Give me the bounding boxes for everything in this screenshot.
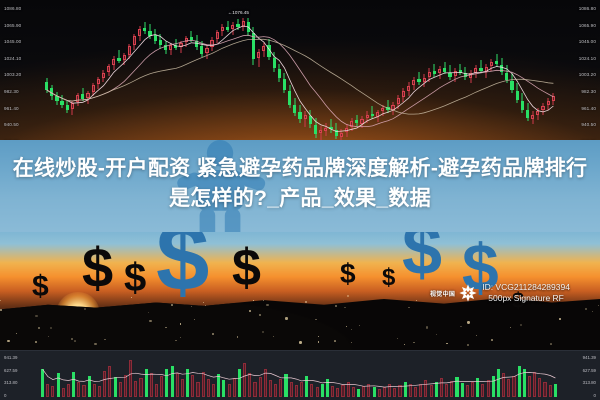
candlestick (71, 6, 74, 140)
light-speck (334, 340, 336, 342)
volume-bar (367, 384, 370, 397)
candlestick (376, 6, 379, 140)
dollar-sign-silhouette: $ (82, 240, 113, 296)
volume-bar (435, 382, 438, 397)
candlestick (231, 6, 234, 140)
volume-bar (67, 384, 70, 397)
axis-tick-label: 1024.10 (4, 56, 21, 61)
volume-bar (373, 387, 376, 397)
axis-tick-label: 1065.90 (579, 23, 596, 28)
volume-bar (445, 384, 448, 397)
volume-bar (450, 381, 453, 397)
volume-bar (51, 386, 54, 397)
volume-ma-line (40, 355, 558, 397)
volume-bar (129, 360, 132, 397)
light-speck (467, 321, 469, 323)
candlestick (247, 6, 250, 140)
candlestick (423, 6, 426, 140)
price-chart-panel: ←1076.45 1086.801065.901045.001024.10100… (0, 0, 600, 160)
axis-tick-label: 1045.00 (4, 39, 21, 44)
candlestick (490, 6, 493, 140)
light-speck (266, 304, 268, 306)
volume-bar (196, 382, 199, 397)
candlestick (360, 6, 363, 140)
volume-bar (222, 380, 225, 397)
volume-bar (466, 385, 469, 397)
candlestick (252, 6, 255, 140)
axis-tick-label: 982.30 (581, 89, 596, 94)
vcg-brand-label: 视觉中国 (430, 289, 455, 298)
vcg-logo: 视觉中国 (430, 282, 479, 304)
volume-bar (512, 376, 515, 397)
volume-bar (269, 380, 272, 397)
volume-bar (98, 386, 101, 397)
candlestick (485, 6, 488, 140)
light-speck (347, 295, 349, 297)
candlestick (464, 6, 467, 140)
candlestick (298, 6, 301, 140)
candlestick (159, 6, 162, 140)
candlestick (288, 6, 291, 140)
volume-bar (419, 384, 422, 397)
volume-bar (378, 389, 381, 397)
volume-bar (243, 363, 246, 397)
volume-bar (487, 380, 490, 397)
volume-bar (264, 369, 267, 397)
candlestick (428, 6, 431, 140)
axis-tick-label: 1086.80 (4, 6, 21, 11)
candlestick (174, 6, 177, 140)
volume-bar (93, 384, 96, 397)
candlestick (216, 6, 219, 140)
volume-bar (228, 384, 231, 397)
candlestick (179, 6, 182, 140)
volume-bar (238, 369, 241, 397)
candlestick (97, 6, 100, 140)
light-speck (175, 340, 176, 341)
candlestick (495, 6, 498, 140)
candlestick (412, 6, 415, 140)
volume-bar (347, 382, 350, 397)
candlestick (66, 6, 69, 140)
volume-bar (398, 385, 401, 397)
candlestick (195, 6, 198, 140)
candlestick (391, 6, 394, 140)
watermark-license: 500px Signature RF (482, 293, 570, 304)
dollar-sign-silhouette: $ (232, 242, 261, 294)
candlestick (45, 6, 48, 140)
volume-bar (538, 378, 541, 397)
candlestick (123, 6, 126, 140)
light-speck (7, 340, 9, 342)
volume-bar (492, 376, 495, 397)
light-speck (559, 318, 561, 320)
candlestick (92, 6, 95, 140)
volume-bar (253, 382, 256, 397)
light-speck (416, 300, 417, 301)
volume-bar (331, 386, 334, 397)
light-speck (299, 341, 301, 343)
volume-bar (326, 379, 329, 397)
candlestick (154, 6, 157, 140)
volume-bar (259, 377, 262, 397)
volume-bar (341, 385, 344, 397)
light-speck (212, 333, 214, 335)
candlestick (340, 6, 343, 140)
candlestick (293, 6, 296, 140)
volume-bar (274, 384, 277, 397)
candlestick (547, 6, 550, 140)
volume-bar (181, 379, 184, 397)
candlestick (479, 6, 482, 140)
volume-bar (279, 379, 282, 397)
volume-bar (114, 377, 117, 397)
candlestick (50, 6, 53, 140)
candlestick (443, 6, 446, 140)
candlestick (448, 6, 451, 140)
peak-annotation: ←1076.45 (228, 10, 249, 15)
volume-axis-tick-label: 313.80 (583, 380, 596, 385)
candlestick (205, 6, 208, 140)
light-speck (237, 336, 239, 338)
volume-axis-tick-label: 0 (4, 393, 6, 398)
volume-bar (528, 376, 531, 397)
candlestick (257, 6, 260, 140)
candlestick (438, 6, 441, 140)
volume-bar (77, 382, 80, 397)
candlestick (469, 6, 472, 140)
light-speck (191, 306, 192, 307)
candlestick (81, 6, 84, 140)
candlestick (552, 6, 555, 140)
volume-bar (300, 382, 303, 397)
volume-bar (455, 377, 458, 397)
volume-bar (430, 385, 433, 397)
volume-bar (383, 387, 386, 397)
axis-tick-label: 940.50 (581, 122, 596, 127)
volume-bar (362, 386, 365, 397)
candlestick (133, 6, 136, 140)
volume-bar (471, 382, 474, 397)
volume-axis-tick-label: 627.59 (4, 368, 17, 373)
candlestick (381, 6, 384, 140)
candlestick (304, 6, 307, 140)
candlestick (521, 6, 524, 140)
axis-tick-label: 1003.20 (579, 72, 596, 77)
light-speck (0, 300, 1, 301)
volume-bar (316, 387, 319, 397)
light-speck (585, 308, 587, 310)
candlestick (138, 6, 141, 140)
light-speck (180, 337, 181, 338)
volume-bar (202, 372, 205, 397)
volume-bar (554, 384, 557, 397)
candlestick (319, 6, 322, 140)
volume-bar (321, 384, 324, 397)
candlestick (112, 6, 115, 140)
volume-bar (41, 369, 44, 397)
volume-bar (248, 373, 251, 397)
volume-axis-tick-label: 0 (594, 393, 596, 398)
candlestick (459, 6, 462, 140)
volume-bar (46, 384, 49, 397)
volume-bar (82, 385, 85, 397)
volume-bar (440, 378, 443, 397)
volume-bar (305, 376, 308, 397)
candlestick (226, 6, 229, 140)
candlestick (190, 6, 193, 140)
axis-tick-label: 1065.90 (4, 23, 21, 28)
candlestick (267, 6, 270, 140)
candlestick (143, 6, 146, 140)
volume-bar (497, 369, 500, 397)
volume-bar (424, 380, 427, 397)
volume-bar (72, 372, 75, 397)
candlestick (541, 6, 544, 140)
candlestick-plot (44, 6, 556, 140)
candlestick (86, 6, 89, 140)
candlestick (355, 6, 358, 140)
volume-bar (533, 372, 536, 397)
axis-tick-label: 961.40 (581, 106, 596, 111)
dollar-sign-silhouette: $ (402, 232, 442, 286)
volume-bar (476, 378, 479, 397)
watermark-id: ID: VCG211284289394 (482, 282, 570, 293)
light-speck (592, 311, 593, 312)
candlestick (345, 6, 348, 140)
candlestick (536, 6, 539, 140)
candlestick (283, 6, 286, 140)
dollar-sign-silhouette: $ (382, 266, 395, 290)
axis-tick-label: 940.50 (4, 122, 19, 127)
volume-bar (284, 374, 287, 397)
watermark: 视觉中国 ID: VCG211284289394 (430, 282, 570, 304)
candlestick (236, 6, 239, 140)
light-speck (404, 344, 405, 345)
light-speck (305, 301, 307, 303)
pinwheel-icon (457, 282, 479, 304)
light-speck (35, 315, 37, 317)
light-speck (74, 340, 76, 342)
axis-tick-label: 982.30 (4, 89, 19, 94)
candlestick (107, 6, 110, 140)
candlestick (505, 6, 508, 140)
volume-axis-tick-label: 627.59 (583, 368, 596, 373)
candlestick (128, 6, 131, 140)
volume-bar (155, 384, 158, 397)
candlestick (500, 6, 503, 140)
light-speck (351, 329, 352, 330)
light-speck (94, 343, 96, 345)
candlestick (148, 6, 151, 140)
volume-bar (207, 379, 210, 397)
candlestick (417, 6, 420, 140)
light-speck (171, 304, 173, 306)
volume-bar (103, 371, 106, 397)
light-speck (446, 343, 447, 344)
candlestick (324, 6, 327, 140)
volume-bar (295, 385, 298, 397)
light-speck (249, 310, 251, 312)
volume-bar (388, 384, 391, 397)
candlestick (402, 6, 405, 140)
candlestick (185, 6, 188, 140)
volume-bar (186, 369, 189, 397)
light-speck (397, 338, 398, 339)
candlestick (329, 6, 332, 140)
axis-tick-label: 1045.00 (579, 39, 596, 44)
volume-bar (404, 382, 407, 397)
volume-bar (414, 387, 417, 397)
candlestick (531, 6, 534, 140)
dollar-sign-silhouette: $ (156, 232, 209, 306)
volume-bar (145, 369, 148, 397)
candlestick (366, 6, 369, 140)
candlestick (516, 6, 519, 140)
candlestick (102, 6, 105, 140)
volume-bar (352, 387, 355, 397)
candlestick (60, 6, 63, 140)
dollar-sign-silhouette: $ (124, 258, 146, 298)
volume-bar (393, 388, 396, 397)
candlestick (117, 6, 120, 140)
candlestick (433, 6, 436, 140)
light-speck (263, 300, 264, 301)
candlestick (350, 6, 353, 140)
volume-chart-panel: 941.39627.59313.800 941.39627.59313.800 (0, 350, 600, 400)
candlestick (407, 6, 410, 140)
light-speck (50, 327, 52, 329)
candlestick (55, 6, 58, 140)
volume-bar (160, 376, 163, 397)
volume-bar (310, 384, 313, 397)
volume-bar (357, 389, 360, 397)
volume-bar (461, 383, 464, 397)
volume-bar (233, 378, 236, 397)
candlestick (273, 6, 276, 140)
volume-bar (290, 382, 293, 397)
candlestick (386, 6, 389, 140)
volume-bar (134, 381, 137, 397)
volume-axis-tick-label: 313.80 (4, 380, 17, 385)
watermark-text: ID: VCG211284289394 500px Signature RF (482, 282, 570, 304)
volume-bar (336, 388, 339, 397)
volume-bar (88, 376, 91, 397)
volume-axis-tick-label: 941.39 (4, 355, 17, 360)
volume-bar (57, 373, 60, 397)
volume-bar (165, 369, 168, 397)
volume-bar (150, 373, 153, 397)
volume-bar (549, 385, 552, 397)
light-speck (520, 324, 522, 326)
light-speck (344, 307, 345, 308)
candlestick (474, 6, 477, 140)
volume-bar (176, 373, 179, 397)
candlestick (200, 6, 203, 140)
volume-bar (212, 384, 215, 397)
candlestick (526, 6, 529, 140)
volume-bar (124, 375, 127, 397)
volume-bar (507, 379, 510, 397)
axis-tick-label: 1086.80 (579, 6, 596, 11)
candlestick (454, 6, 457, 140)
volume-bar (502, 373, 505, 397)
axis-tick-label: 1003.20 (4, 72, 21, 77)
light-speck (436, 334, 437, 335)
candlestick (262, 6, 265, 140)
page-title: 在线炒股-开户配资 紧急避孕药品牌深度解析-避孕药品牌排行是怎样的?_产品_效果… (0, 154, 600, 214)
volume-bar (119, 382, 122, 397)
candlestick (335, 6, 338, 140)
volume-bar (171, 366, 174, 397)
candlestick (371, 6, 374, 140)
volume-bar (481, 384, 484, 397)
volume-plot (40, 355, 558, 397)
article-banner: ←1076.45 1086.801065.901045.001024.10100… (0, 0, 600, 400)
volume-bar (543, 382, 546, 397)
volume-bar (108, 366, 111, 397)
candlestick (76, 6, 79, 140)
candlestick (397, 6, 400, 140)
candlestick (510, 6, 513, 140)
candlestick (309, 6, 312, 140)
volume-bar (523, 369, 526, 397)
title-overlay: 在线炒股-开户配资 紧急避孕药品牌深度解析-避孕药品牌排行是怎样的?_产品_效果… (0, 140, 600, 240)
candlestick (314, 6, 317, 140)
light-speck (149, 320, 151, 322)
candlestick (210, 6, 213, 140)
volume-bar (139, 378, 142, 397)
light-speck (285, 317, 287, 319)
candlestick (164, 6, 167, 140)
candlestick (278, 6, 281, 140)
light-speck (253, 300, 254, 301)
volume-bar (518, 366, 521, 397)
dollar-sign-silhouette: $ (32, 272, 49, 302)
axis-tick-label: 961.40 (4, 106, 19, 111)
candlestick (221, 6, 224, 140)
volume-bar (217, 374, 220, 397)
volume-bar (62, 388, 65, 397)
volume-axis-tick-label: 941.39 (583, 355, 596, 360)
volume-bar (191, 375, 194, 397)
light-speck (510, 327, 511, 328)
candlestick (169, 6, 172, 140)
dollar-sign-silhouette: $ (340, 260, 356, 288)
volume-bar (409, 384, 412, 397)
candlestick (242, 6, 245, 140)
axis-tick-label: 1024.10 (579, 56, 596, 61)
